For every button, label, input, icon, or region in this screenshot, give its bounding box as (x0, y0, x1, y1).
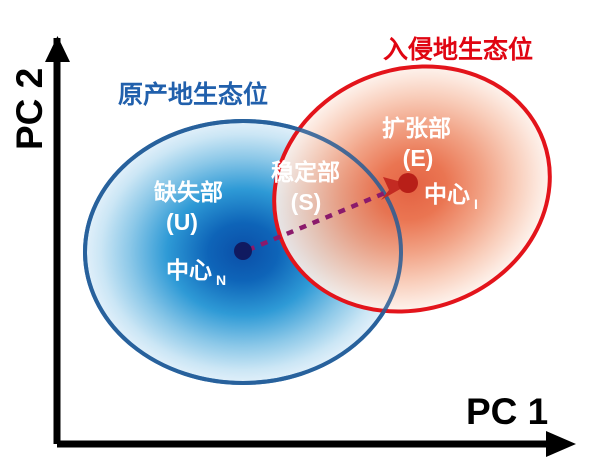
figure-canvas: 原产地生态位 入侵地生态位 缺失部 (U) 稳定部 (S) 扩张部 (E) 中心… (0, 0, 600, 464)
region-code-stable: (S) (291, 189, 322, 215)
native-centroid-dot (234, 242, 252, 260)
region-code-unfilled: (U) (166, 209, 198, 235)
region-label-expansion: 扩张部 (382, 115, 451, 142)
region-code-expansion: (E) (403, 145, 434, 171)
region-label-unfilled: 缺失部 (154, 179, 223, 206)
region-label-stable: 稳定部 (271, 159, 340, 186)
y-axis-arrowhead (45, 36, 70, 62)
x-axis-label: PC 1 (466, 391, 548, 432)
native-centroid-subscript: N (216, 272, 226, 288)
invaded-niche-title: 入侵地生态位 (383, 35, 533, 64)
niche-shift-figure: 原产地生态位 入侵地生态位 缺失部 (U) 稳定部 (S) 扩张部 (E) 中心… (0, 0, 600, 464)
invaded-centroid-label: 中心 (424, 182, 470, 208)
native-niche-title: 原产地生态位 (118, 80, 268, 109)
invaded-centroid-dot (398, 173, 418, 193)
y-axis-label: PC 2 (9, 68, 50, 150)
x-axis-arrowhead (546, 431, 576, 457)
invaded-centroid-subscript: I (474, 196, 478, 212)
native-centroid-label: 中心 (166, 258, 212, 284)
